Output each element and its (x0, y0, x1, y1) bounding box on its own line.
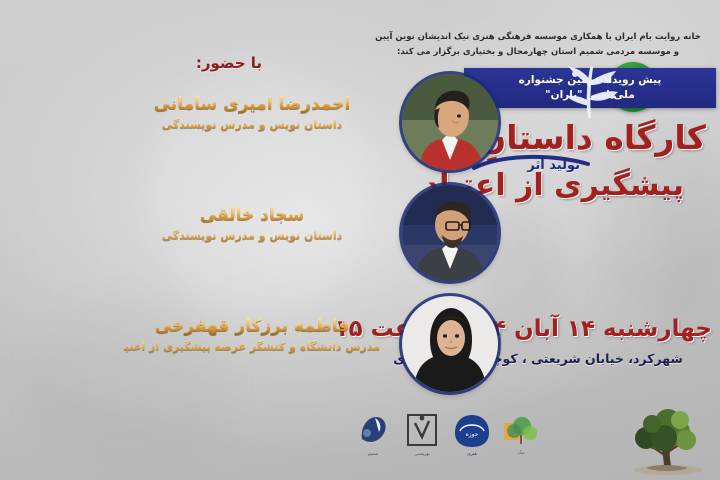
olive-tree-illustration (612, 402, 716, 476)
presenter-photo-2 (402, 185, 498, 281)
svg-text:نیک: نیک (517, 450, 524, 456)
svg-text:شمیم: شمیم (368, 452, 379, 457)
svg-text:هنری: هنری (467, 452, 477, 457)
svg-text:حوزه: حوزه (465, 431, 478, 438)
sponsor-logo-tree-orange: نیک (500, 409, 542, 461)
presenters-section: با حضور: (0, 46, 380, 395)
presenter-photo-3 (402, 296, 498, 392)
sponsor-logo-howzeh-honari: حوزه هنری (451, 409, 493, 461)
presenter-text-3: فاطمه برزکار قهفرخی مدرس دانشگاه و کنشگر… (124, 316, 380, 355)
sponsor-logos: نیک حوزه هنری بهزیستی (352, 406, 542, 464)
banner-line-2: ملی ادبی "باران" (545, 88, 635, 103)
presenter-text-2: سجاد خالقی داستان نویس و مدرس نویسندگی (124, 205, 380, 244)
presenter-text-1: احمدرضا امیری سامانی داستان نویس و مدرس … (124, 94, 380, 133)
presenter-role: داستان نویس و مدرس نویسندگی (124, 118, 380, 132)
organizer-line-2: و موسسه مردمی شمیم استان چهارمحال و بختی… (370, 45, 706, 60)
presenter-name: احمدرضا امیری سامانی (124, 94, 380, 115)
presenter-photo-1 (402, 74, 498, 170)
banner-line-1: پیش رویداد دومین جشنواره (519, 73, 662, 88)
presenter-item: فاطمه برزکار قهفرخی مدرس دانشگاه و کنشگر… (0, 290, 380, 395)
poster-canvas: خانه روایت بام ایران با همکاری موسسه فره… (0, 0, 720, 480)
presenter-name: سجاد خالقی (124, 205, 380, 226)
festival-banner: پیش رویداد دومین جشنواره ملی ادبی "باران… (464, 68, 716, 108)
svg-text:بهزیستی: بهزیستی (415, 452, 430, 457)
organizer-text: خانه روایت بام ایران با همکاری موسسه فره… (364, 30, 712, 60)
presenter-role: داستان نویس و مدرس نویسندگی (124, 229, 380, 243)
organizer-line-1: خانه روایت بام ایران با همکاری موسسه فره… (370, 30, 706, 45)
presenter-role: مدرس دانشگاه و کنشگر عرصه پیشگیری از اعت… (124, 340, 380, 354)
sponsor-logo-shamim: شمیم (352, 409, 394, 461)
sponsor-logo-behzisti: بهزیستی (401, 409, 443, 461)
presenter-name: فاطمه برزکار قهفرخی (124, 316, 380, 337)
presenter-item: احمدرضا امیری سامانی داستان نویس و مدرس … (0, 68, 380, 173)
presenter-item: سجاد خالقی داستان نویس و مدرس نویسندگی (0, 179, 380, 284)
